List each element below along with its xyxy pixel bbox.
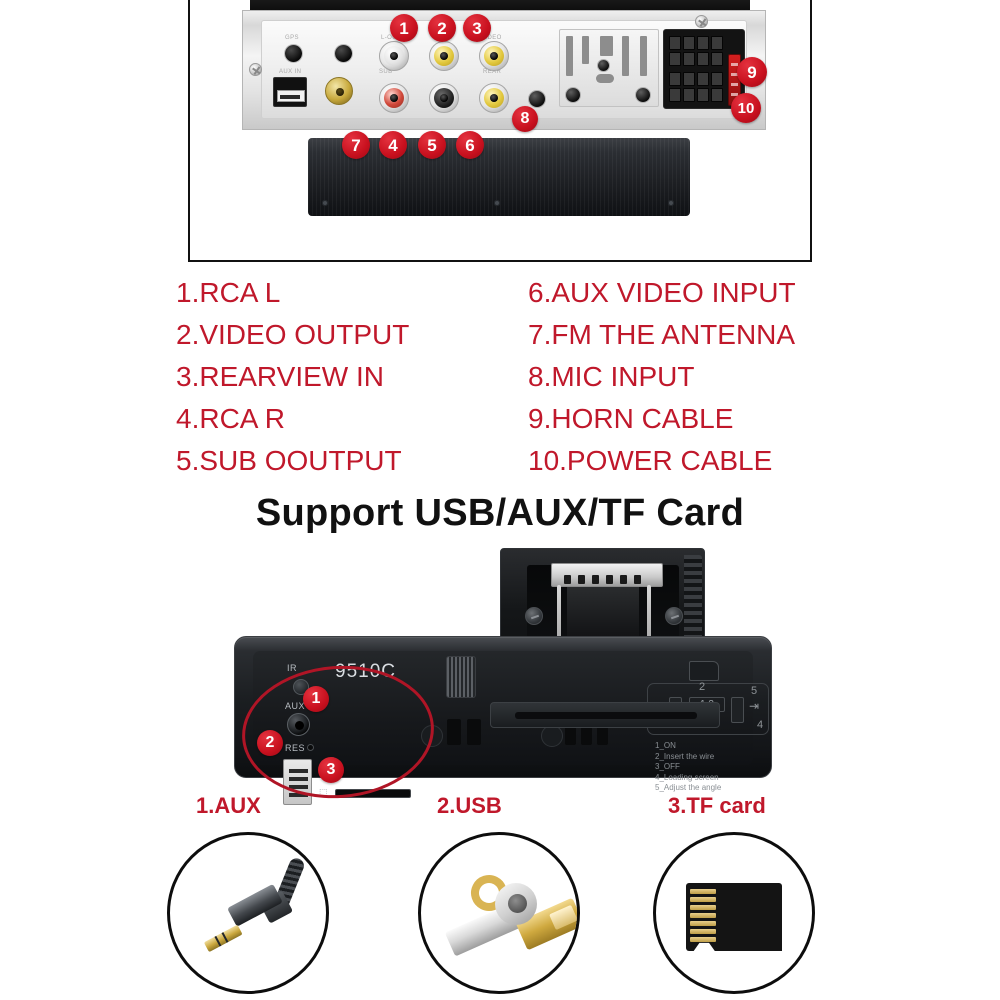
rca-jack-video-output [429, 41, 459, 71]
ir-label: IR [287, 663, 297, 673]
iso-pin [711, 36, 723, 50]
iso-pin [669, 72, 681, 86]
legend-item-5: 5.SUB OOUTPUT [176, 440, 409, 482]
instruction-step-list: 1_ON 2_Insert the wire 3_OFF 4_Loading s… [655, 741, 721, 794]
rca-jack-aux-video-input [479, 83, 509, 113]
tilt-knob[interactable] [446, 656, 476, 698]
usb-slot [277, 90, 305, 102]
iso-pin [683, 36, 695, 50]
vent-keyhole [596, 74, 614, 83]
legend-item-6: 6.AUX VIDEO INPUT [528, 272, 796, 314]
instruction-number-2: 2 [699, 681, 705, 693]
bottom-label-usb: 2.USB [437, 793, 502, 819]
iso-pin [669, 52, 681, 66]
instruction-number-5: 5 [751, 685, 757, 697]
iso-pin [683, 52, 695, 66]
iso-pin [697, 36, 709, 50]
iso-bay-screw-top [695, 15, 708, 28]
callout-badge-10: 10 [731, 93, 761, 123]
iso-pin [683, 88, 695, 102]
body-vent [447, 719, 461, 745]
callout-badge-7: 7 [342, 131, 370, 159]
iso-pin-grid-upper [669, 36, 723, 66]
arrow-right-icon: ⇥ [749, 699, 759, 713]
iso-pin [697, 88, 709, 102]
cage-screw-right [665, 607, 683, 625]
legend-column-right: 6.AUX VIDEO INPUT 7.FM THE ANTENNA 8.MIC… [528, 272, 796, 482]
callout-badge-4: 4 [379, 131, 407, 159]
microsd-gold-contacts [690, 889, 716, 945]
legend-item-9: 9.HORN CABLE [528, 398, 796, 440]
iso-pin-grid-lower [669, 72, 723, 102]
legend-column-left: 1.RCA L 2.VIDEO OUTPUT 3.REARVIEW IN 4.R… [176, 272, 409, 482]
vent-center-post [598, 60, 609, 71]
stereo-rear-chassis: GPS AUX IN L-OUT AV-IN VIDEO SUB REAR [242, 10, 766, 130]
ribbon-connector-head [551, 563, 663, 587]
iso-pin [711, 72, 723, 86]
tf-microsd-card-photo [653, 832, 815, 994]
usb-flash-drive-photo [418, 832, 580, 994]
vent-slot [640, 36, 647, 76]
legend-item-2: 2.VIDEO OUTPUT [176, 314, 409, 356]
lower-callout-badge-1: 1 [303, 686, 329, 712]
usb-connector-block [273, 77, 307, 107]
callout-badge-3: 3 [463, 14, 491, 42]
faceplate-screw-left [322, 200, 328, 206]
aux-cable-photo [167, 832, 329, 994]
iso-pin [683, 72, 695, 86]
callout-badge-8: 8 [512, 106, 538, 132]
iso-connector-block [663, 29, 745, 109]
port-legend: 1.RCA L 2.VIDEO OUTPUT 3.REARVIEW IN 4.R… [176, 272, 876, 484]
vent-slot [600, 36, 613, 56]
vent-slot [582, 36, 589, 64]
callout-badge-5: 5 [418, 131, 446, 159]
callout-badge-6: 6 [456, 131, 484, 159]
iso-pin [697, 72, 709, 86]
body-vent [467, 719, 481, 745]
faceplate-screw-right [668, 200, 674, 206]
lower-callout-badge-2: 2 [257, 730, 283, 756]
secondary-antenna-hole [335, 45, 352, 62]
callout-badge-9: 9 [737, 57, 767, 87]
legend-item-4: 4.RCA R [176, 398, 409, 440]
iso-pin [697, 52, 709, 66]
chassis-vent-panel [559, 29, 659, 107]
faceplate-screw-center [494, 200, 500, 206]
lower-callout-badge-3: 3 [318, 757, 344, 783]
rca-jack-l-white [379, 41, 409, 71]
legend-item-10: 10.POWER CABLE [528, 440, 796, 482]
fm-antenna-jack [325, 77, 353, 105]
port-label-auxin: AUX IN [279, 69, 301, 75]
instruction-step-5: 5_Adjust the angle [655, 783, 721, 794]
callout-badge-2: 2 [428, 14, 456, 42]
vent-slot [622, 36, 629, 76]
aux-plug-gold-tip [204, 925, 243, 953]
legend-item-8: 8.MIC INPUT [528, 356, 796, 398]
usb-drive-head [495, 883, 537, 925]
product-spec-infographic: GPS AUX IN L-OUT AV-IN VIDEO SUB REAR [0, 0, 1000, 1000]
body-port-circle-right [541, 725, 563, 747]
instruction-step-2: 2_Insert the wire [655, 752, 721, 763]
bracket-right-icon [731, 697, 744, 723]
bottom-label-aux: 1.AUX [196, 793, 261, 819]
iso-pin [669, 36, 681, 50]
mic-input-jack [529, 91, 545, 107]
screen-icon [689, 661, 719, 681]
gps-antenna-hole [285, 45, 302, 62]
instruction-step-4: 4_Loading screen [655, 773, 721, 784]
bottom-label-tf: 3.TF card [668, 793, 766, 819]
rca-jack-sub-output [429, 83, 459, 113]
chassis-standoff-left [566, 88, 580, 102]
cage-screw-left [525, 607, 543, 625]
legend-item-3: 3.REARVIEW IN [176, 356, 409, 398]
section-heading: Support USB/AUX/TF Card [0, 492, 1000, 535]
rca-jack-rearview-in [479, 41, 509, 71]
iso-pin [711, 88, 723, 102]
instruction-step-1: 1_ON [655, 741, 721, 752]
chassis-standoff-right [636, 88, 650, 102]
chassis-screw-left [249, 63, 262, 76]
port-label-gps: GPS [285, 35, 299, 41]
iso-pin [711, 52, 723, 66]
callout-badge-1: 1 [390, 14, 418, 42]
instruction-step-3: 3_OFF [655, 762, 721, 773]
panel-release-tray [490, 702, 720, 728]
legend-item-1: 1.RCA L [176, 272, 409, 314]
legend-item-7: 7.FM THE ANTENNA [528, 314, 796, 356]
vent-slot [566, 36, 573, 76]
iso-pin [669, 88, 681, 102]
instruction-number-4-right: 4 [757, 719, 763, 731]
rca-jack-r-red [379, 83, 409, 113]
top-panel-frame: GPS AUX IN L-OUT AV-IN VIDEO SUB REAR [188, 0, 812, 262]
